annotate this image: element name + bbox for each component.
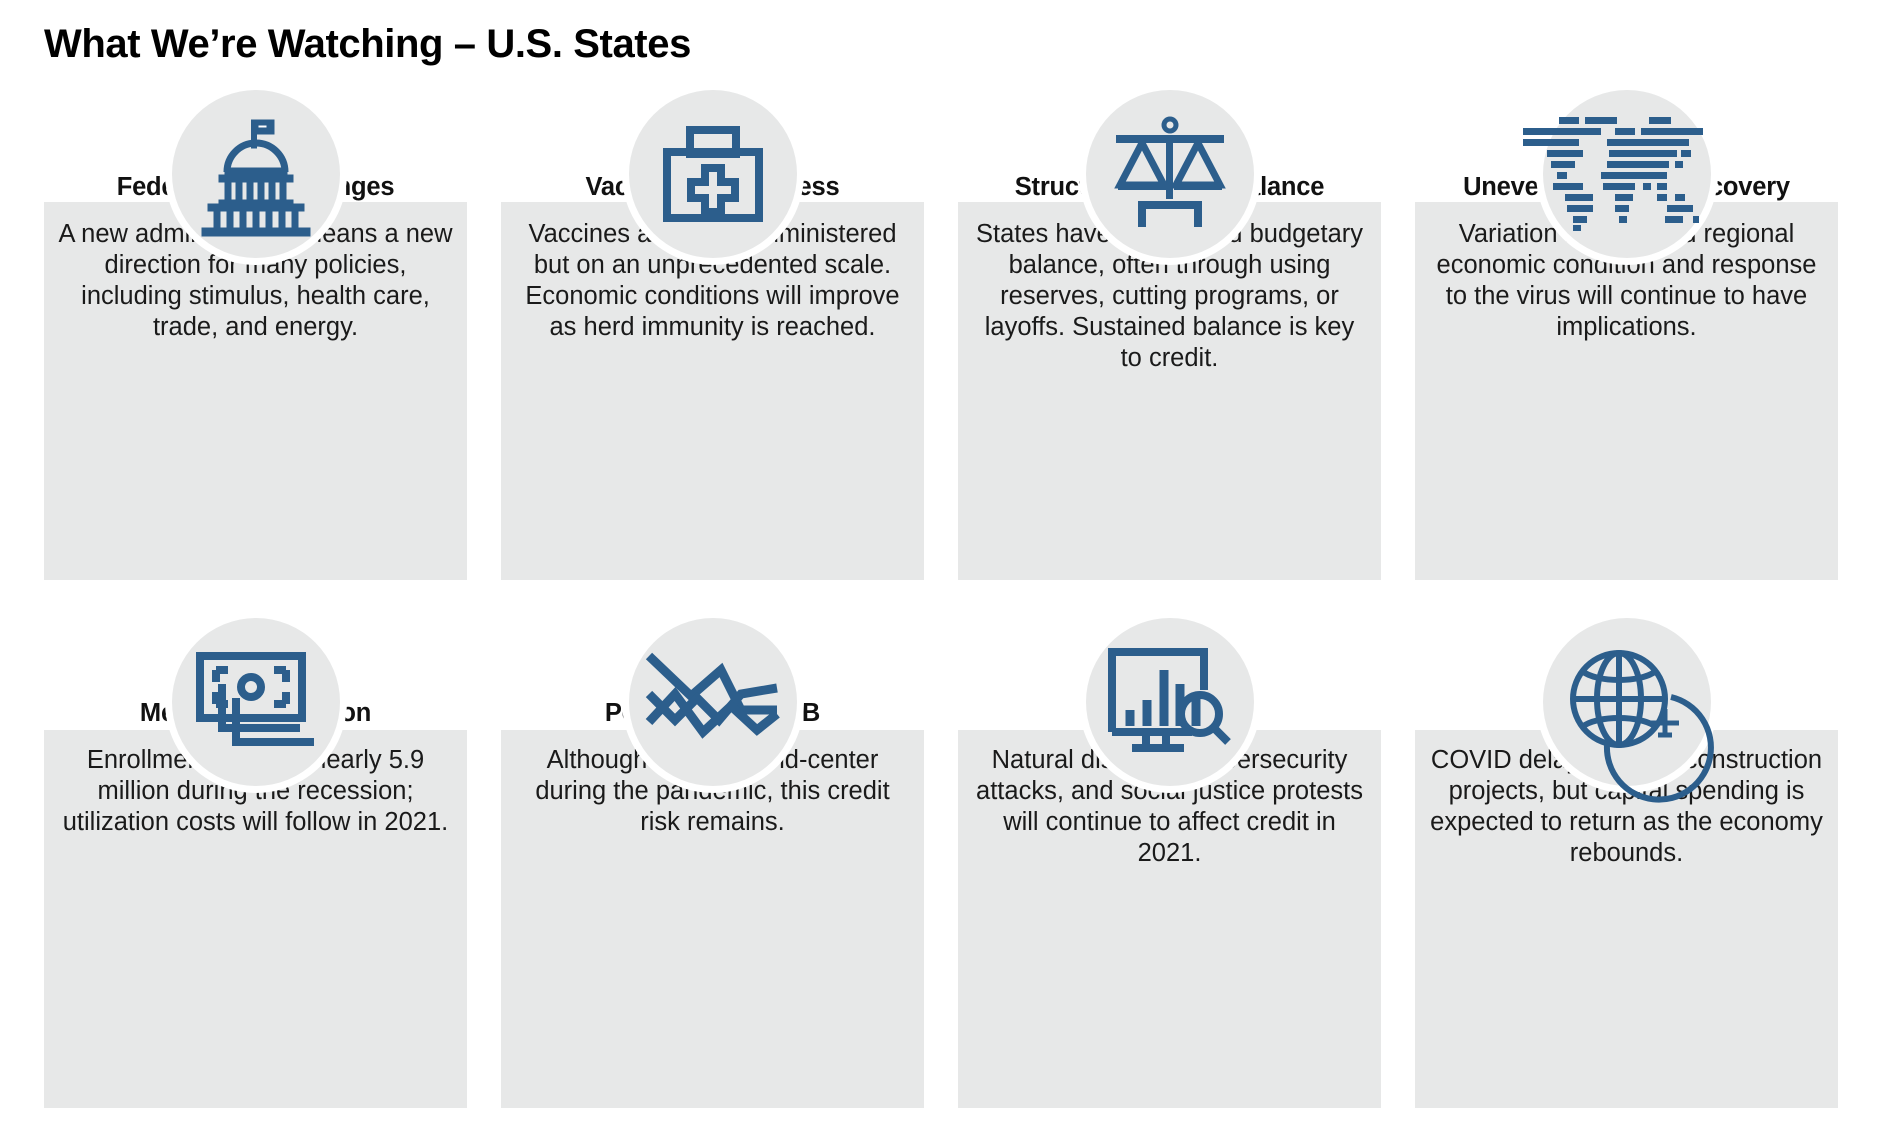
banknotes-icon (172, 618, 340, 786)
infographic-page: What We’re Watching – U.S. States (0, 0, 1882, 1128)
page-title: What We’re Watching – U.S. States (44, 22, 691, 67)
globe-airplane-icon (1543, 618, 1711, 786)
watch-card-event-risks: Event risks Natural disasters, cybersecu… (958, 618, 1381, 1108)
capitol-building-icon (172, 90, 340, 258)
watch-items-grid: Federal policy changes A new administrat… (44, 90, 1838, 1110)
watch-card-infrastructure: Infrastructure COVID delayed many constr… (1415, 618, 1838, 1108)
world-map-icon (1543, 90, 1711, 258)
line-chart-icon (629, 618, 797, 786)
watch-card-structural-budget-balance: Structural budget balance States have ma… (958, 90, 1381, 580)
watch-card-vaccination-progress: Vaccination progress Vaccines are being … (501, 90, 924, 580)
watch-card-pensions-opeb: Pensions & OPEB Although not front-and-c… (501, 618, 924, 1108)
scales-of-justice-icon (1086, 90, 1254, 258)
watch-card-uneven-economic-recovery: Uneven economic recovery Variation in st… (1415, 90, 1838, 580)
watch-card-medicaid-utilization: Medicaid utilization Enrollment grew by … (44, 618, 467, 1108)
medical-kit-icon (629, 90, 797, 258)
monitor-chart-search-icon (1086, 618, 1254, 786)
watch-card-federal-policy-changes: Federal policy changes A new administrat… (44, 90, 467, 580)
